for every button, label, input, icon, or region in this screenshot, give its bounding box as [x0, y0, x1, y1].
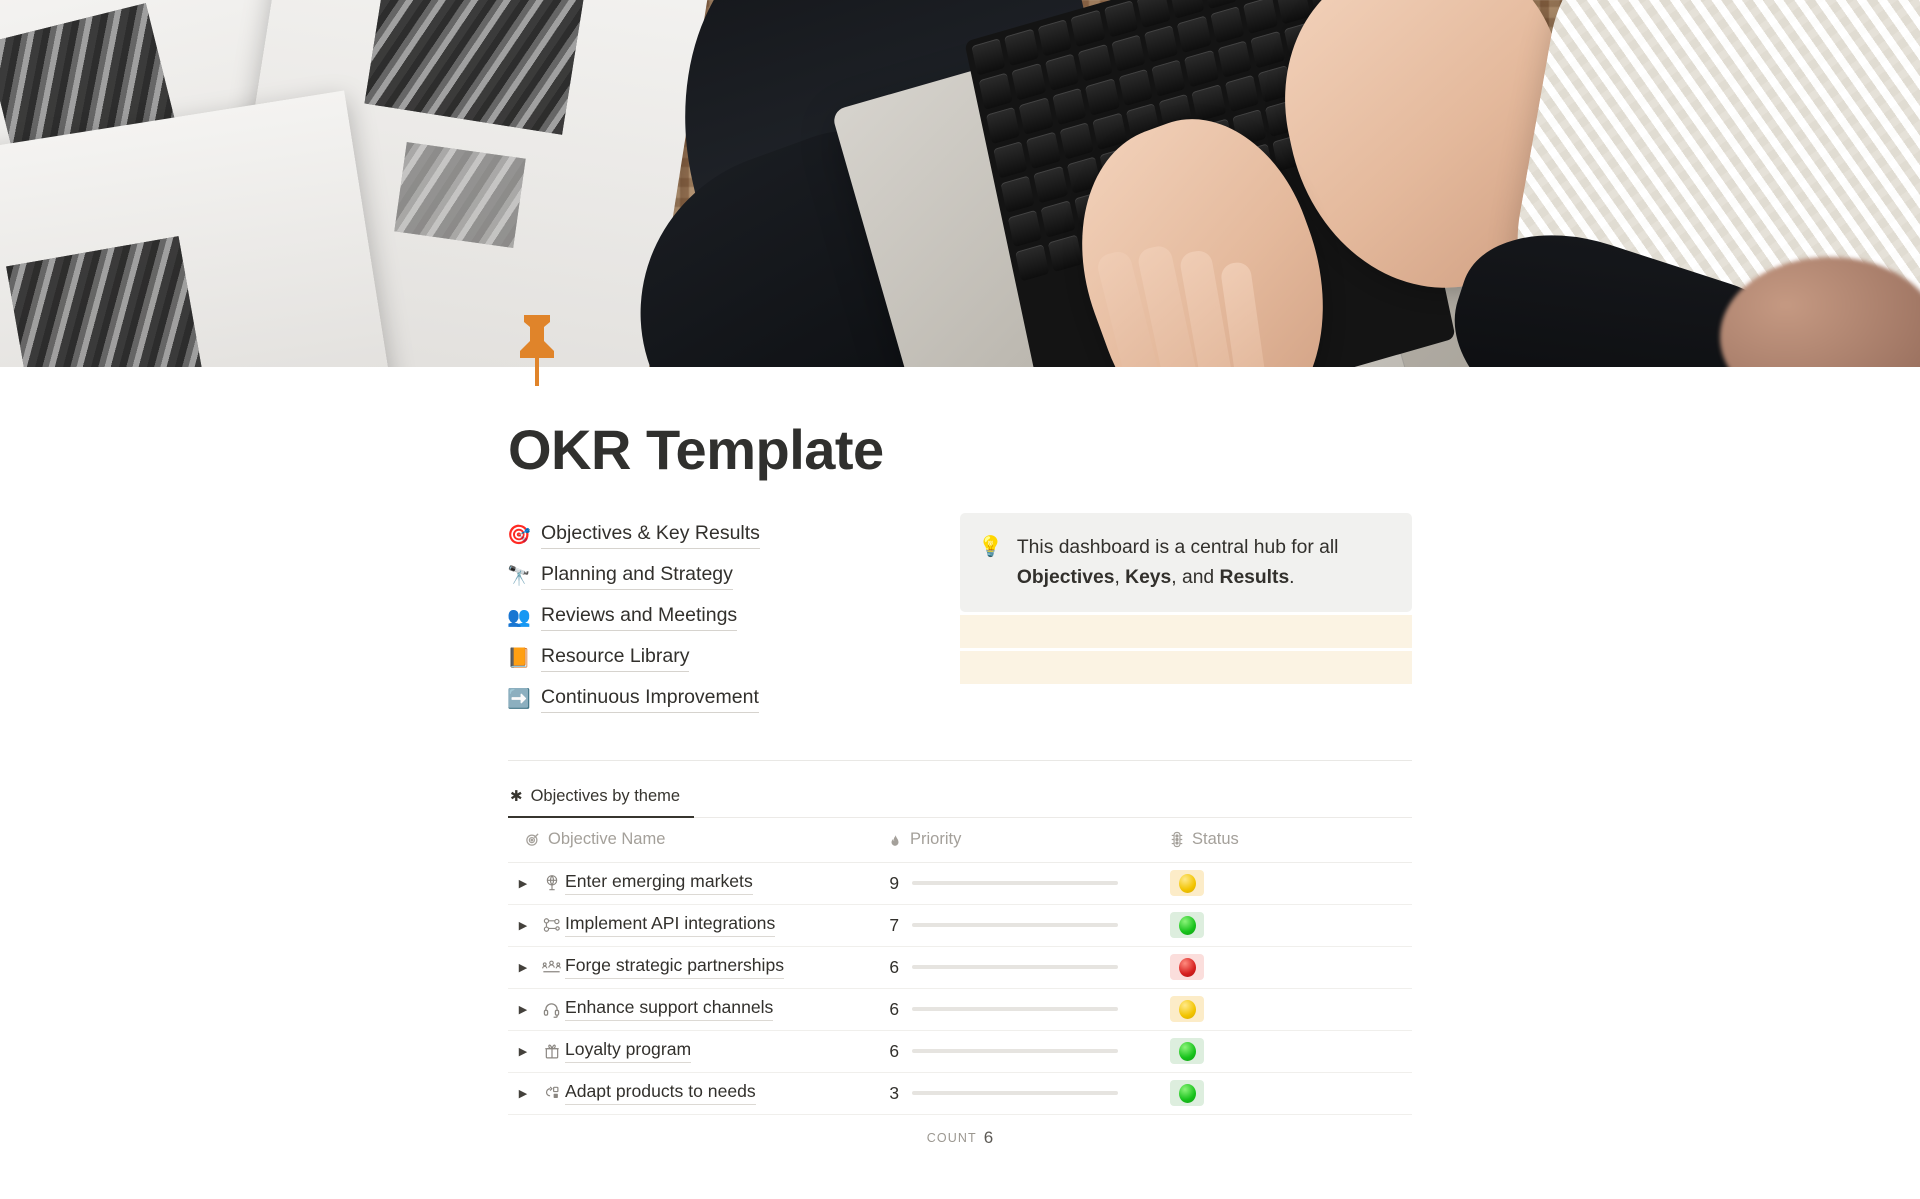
objective-name-link[interactable]: Adapt products to needs	[565, 1081, 756, 1105]
content-column: OKR Template 🎯 Objectives & Key Results …	[508, 367, 1412, 1161]
priority-bar	[912, 965, 1118, 970]
expand-caret-icon[interactable]: ▶	[508, 877, 538, 890]
column-header-label: Status	[1192, 830, 1239, 849]
expand-caret-icon[interactable]: ▶	[508, 961, 538, 974]
transform-icon	[538, 1085, 565, 1101]
table-row[interactable]: ▶ Loyalty program 6	[508, 1031, 1412, 1073]
cell-objective-name: ▶ Forge strategic partnerships	[508, 955, 888, 979]
column-header-priority[interactable]: Priority	[888, 830, 1170, 849]
intro-columns: 🎯 Objectives & Key Results 🔭 Planning an…	[508, 507, 1412, 720]
column-header-label: Priority	[910, 830, 961, 849]
count-value: 6	[984, 1128, 993, 1148]
cell-status	[1170, 1038, 1412, 1064]
cell-objective-name: ▶ Implement API integrations	[508, 913, 888, 937]
priority-value: 9	[888, 873, 899, 894]
table-row[interactable]: ▶ Adapt products to needs 3	[508, 1073, 1412, 1115]
cover-photo	[0, 0, 1920, 367]
api-nodes-icon	[538, 917, 565, 933]
callout-bold-results: Results	[1220, 567, 1290, 588]
nav-link-label: Objectives & Key Results	[541, 521, 760, 548]
priority-bar	[912, 1091, 1118, 1096]
table-row[interactable]: ▶ Forge strategic partnerships	[508, 947, 1412, 989]
highlight-block-2[interactable]	[960, 651, 1412, 684]
cover-image	[0, 0, 1920, 367]
status-badge[interactable]	[1170, 954, 1204, 980]
nav-link-label: Planning and Strategy	[541, 562, 733, 589]
nav-link-resource-library[interactable]: 📙 Resource Library	[508, 638, 936, 679]
status-dot-yellow	[1179, 874, 1196, 893]
priority-bar	[912, 1007, 1118, 1012]
table-footer-count: Count 6	[508, 1115, 1412, 1161]
telescope-icon: 🔭	[508, 567, 530, 586]
cell-objective-name: ▶ Adapt products to needs	[508, 1081, 888, 1105]
callout-text-after: .	[1289, 567, 1294, 588]
status-dot-green	[1179, 916, 1196, 935]
status-badge[interactable]	[1170, 1038, 1204, 1064]
cell-status	[1170, 996, 1412, 1022]
callout-bold-objectives: Objectives	[1017, 567, 1115, 588]
cell-objective-name: ▶ Enhance support channels	[508, 997, 888, 1021]
objectives-database: ✱ Objectives by theme Objective Name	[508, 783, 1412, 1161]
objective-name-link[interactable]: Implement API integrations	[565, 913, 775, 937]
cell-priority: 6	[888, 999, 1170, 1020]
nav-link-reviews-and-meetings[interactable]: 👥 Reviews and Meetings	[508, 597, 936, 638]
globe-stand-icon	[538, 874, 565, 892]
tab-label: Objectives by theme	[531, 787, 680, 806]
column-header-objective-name[interactable]: Objective Name	[508, 830, 888, 849]
callout-column: 💡 This dashboard is a central hub for al…	[960, 507, 1412, 685]
callout-sep-1: ,	[1114, 567, 1125, 588]
nav-link-planning-and-strategy[interactable]: 🔭 Planning and Strategy	[508, 556, 936, 597]
tab-objectives-by-theme[interactable]: ✱ Objectives by theme	[508, 783, 694, 818]
status-badge[interactable]	[1170, 912, 1204, 938]
priority-bar	[912, 1049, 1118, 1054]
cell-priority: 6	[888, 957, 1170, 978]
table-header-row: Objective Name Priority	[508, 818, 1412, 863]
nav-link-label: Reviews and Meetings	[541, 603, 737, 630]
cell-priority: 3	[888, 1083, 1170, 1104]
cell-status	[1170, 954, 1412, 980]
cell-status	[1170, 1080, 1412, 1106]
column-header-status[interactable]: Status	[1170, 830, 1412, 849]
objective-name-link[interactable]: Enhance support channels	[565, 997, 773, 1021]
table-row[interactable]: ▶ Enter emerging markets 9	[508, 863, 1412, 905]
status-badge[interactable]	[1170, 1080, 1204, 1106]
callout-text-before: This dashboard is a central hub for all	[1017, 537, 1339, 558]
nav-link-label: Resource Library	[541, 644, 689, 671]
view-tabs: ✱ Objectives by theme	[508, 783, 1412, 818]
objective-name-link[interactable]: Enter emerging markets	[565, 871, 753, 895]
pushpin-icon[interactable]	[508, 313, 566, 387]
cell-priority: 9	[888, 873, 1170, 894]
priority-value: 6	[888, 1041, 899, 1062]
callout-text: This dashboard is a central hub for all …	[1017, 533, 1392, 593]
section-divider	[508, 760, 1412, 761]
arrow-right-icon: ➡️	[508, 690, 530, 709]
expand-caret-icon[interactable]: ▶	[508, 1087, 538, 1100]
priority-value: 3	[888, 1083, 899, 1104]
cell-objective-name: ▶ Loyalty program	[508, 1039, 888, 1063]
priority-bar	[912, 881, 1118, 886]
status-dot-red	[1179, 958, 1196, 977]
info-callout: 💡 This dashboard is a central hub for al…	[960, 513, 1412, 613]
status-badge[interactable]	[1170, 996, 1204, 1022]
status-dot-green	[1179, 1084, 1196, 1103]
priority-bar	[912, 923, 1118, 928]
expand-caret-icon[interactable]: ▶	[508, 919, 538, 932]
nav-link-objectives-key-results[interactable]: 🎯 Objectives & Key Results	[508, 515, 936, 556]
nav-link-continuous-improvement[interactable]: ➡️ Continuous Improvement	[508, 679, 936, 720]
cell-status	[1170, 870, 1412, 896]
books-icon: 📙	[508, 649, 530, 668]
objective-name-link[interactable]: Loyalty program	[565, 1039, 691, 1063]
target-icon	[525, 832, 540, 847]
gift-icon	[538, 1043, 565, 1060]
highlight-block-1[interactable]	[960, 615, 1412, 648]
expand-caret-icon[interactable]: ▶	[508, 1003, 538, 1016]
flame-icon	[888, 832, 902, 848]
priority-value: 6	[888, 999, 899, 1020]
status-dot-yellow	[1179, 1000, 1196, 1019]
cell-status	[1170, 912, 1412, 938]
cell-priority: 7	[888, 915, 1170, 936]
priority-value: 7	[888, 915, 899, 936]
callout-sep-2: , and	[1171, 567, 1219, 588]
cell-objective-name: ▶ Enter emerging markets	[508, 871, 888, 895]
headset-icon	[538, 1001, 565, 1018]
nav-link-list: 🎯 Objectives & Key Results 🔭 Planning an…	[508, 507, 936, 720]
page-title: OKR Template	[508, 367, 1412, 507]
column-header-label: Objective Name	[548, 830, 665, 849]
priority-value: 6	[888, 957, 899, 978]
cell-priority: 6	[888, 1041, 1170, 1062]
nav-link-label: Continuous Improvement	[541, 685, 759, 712]
count-label: Count	[927, 1131, 977, 1145]
callout-bold-keys: Keys	[1125, 567, 1171, 588]
objective-name-link[interactable]: Forge strategic partnerships	[565, 955, 784, 979]
expand-caret-icon[interactable]: ▶	[508, 1045, 538, 1058]
status-badge[interactable]	[1170, 870, 1204, 896]
traffic-light-icon	[1170, 831, 1184, 848]
table-row[interactable]: ▶ Enhance support channels 6	[508, 989, 1412, 1031]
meeting-icon	[538, 959, 565, 975]
target-icon: 🎯	[508, 526, 530, 545]
status-dot-green	[1179, 1042, 1196, 1061]
lightbulb-icon: 💡	[978, 533, 1003, 562]
people-icon: 👥	[508, 608, 530, 627]
table-row[interactable]: ▶ Implement API integrations 7	[508, 905, 1412, 947]
page-body: OKR Template 🎯 Objectives & Key Results …	[0, 367, 1920, 1161]
asterisk-icon: ✱	[510, 789, 523, 804]
magazine-photo	[394, 142, 525, 248]
